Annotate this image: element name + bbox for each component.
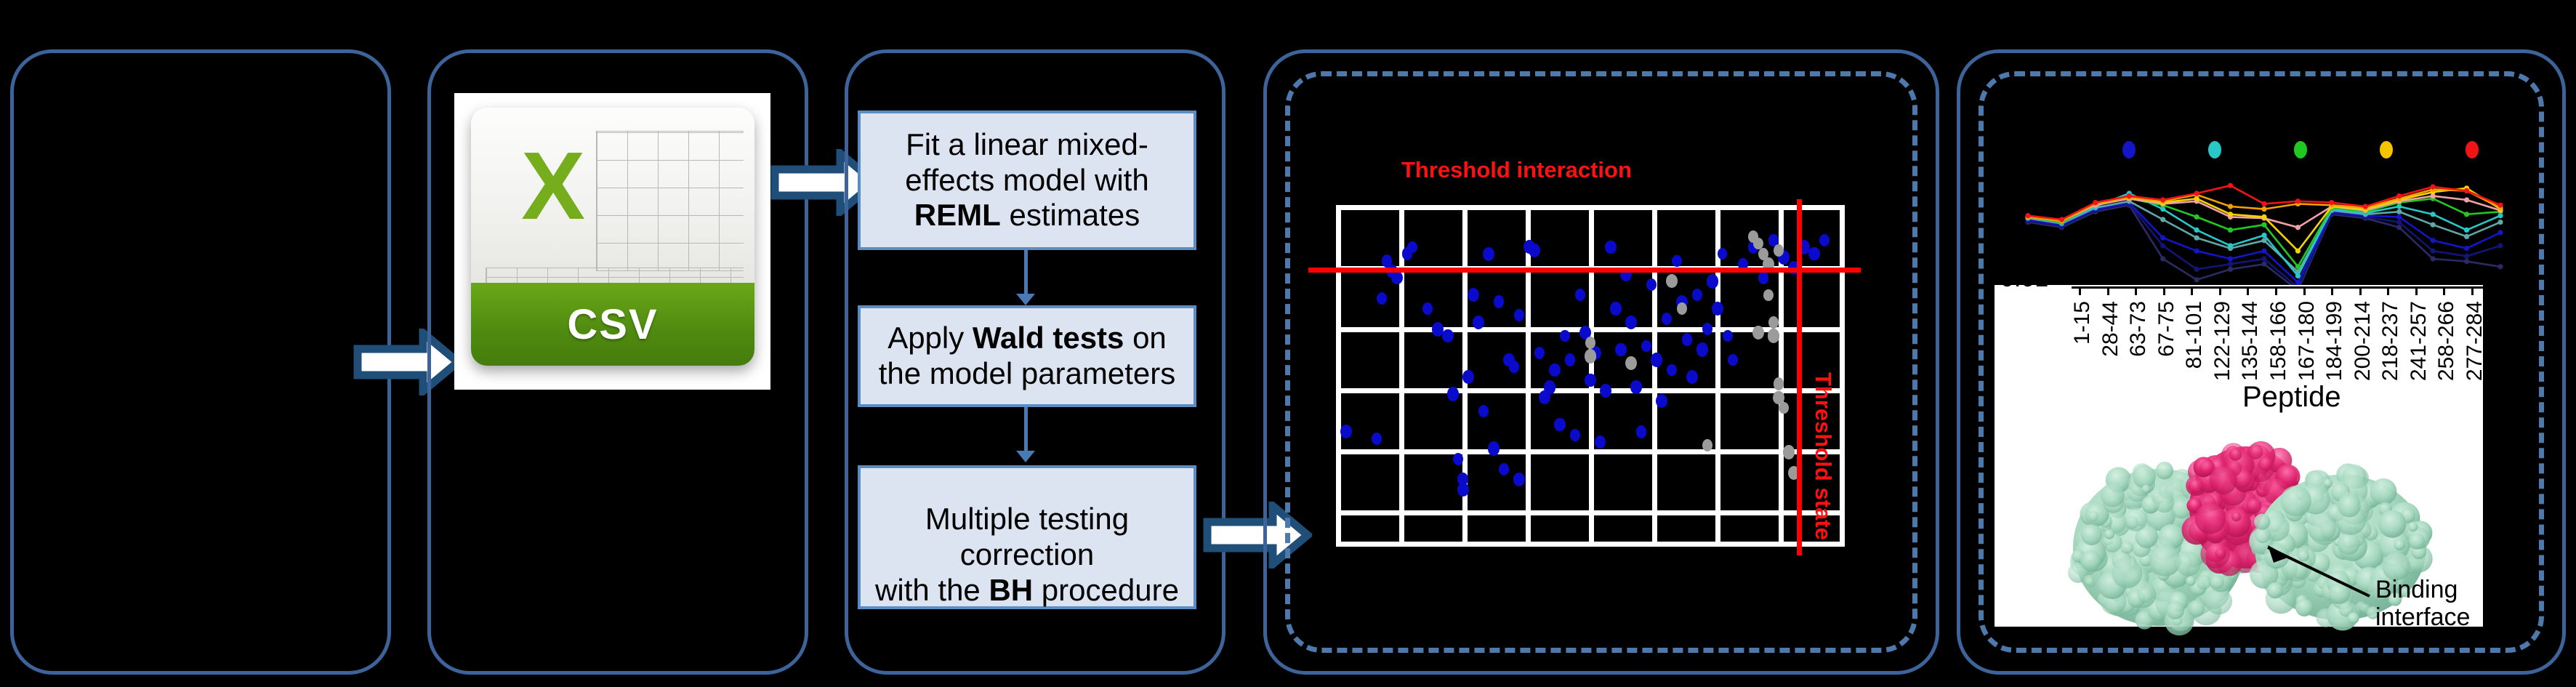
- peptide-series-marker: [2431, 212, 2436, 217]
- peptide-series-marker: [2431, 249, 2436, 254]
- volcano-plot: Threshold interaction Threshol: [1308, 153, 1897, 567]
- peptide-series-marker: [2261, 206, 2266, 212]
- scatter-point: [1483, 247, 1494, 261]
- scatter-point: [1565, 353, 1576, 366]
- scatter-point: [1499, 463, 1510, 476]
- csv-icon-extension-band: CSV: [471, 283, 754, 366]
- step1-bold: REML: [914, 198, 1001, 232]
- axis-tick: [2415, 286, 2418, 295]
- protein-surface-bump: [2189, 479, 2204, 494]
- connector-step2-step3-head: [1016, 451, 1035, 462]
- axis-tick-label: 28-44: [2098, 301, 2123, 357]
- scatter-point: [1702, 439, 1713, 452]
- axis-tick: [2079, 286, 2081, 295]
- scatter-point: [1615, 343, 1626, 356]
- peptide-series-marker: [2431, 222, 2436, 228]
- step-wald-tests-text: Apply Wald tests on the model parameters: [866, 321, 1188, 391]
- peptide-series-marker: [2497, 264, 2503, 269]
- axis-tick-label: 1-15: [2070, 301, 2095, 345]
- scatter-point: [1453, 453, 1463, 465]
- volcano-plot-title: Threshold interaction: [1401, 157, 1632, 183]
- peptide-series-marker: [2396, 225, 2402, 230]
- protein-surface-bump: [2112, 558, 2143, 589]
- protein-surface-bump: [2229, 448, 2242, 461]
- peptide-series-marker: [2194, 190, 2199, 196]
- axis-tick-label: 241-257: [2407, 301, 2431, 381]
- protein-surface-bump: [2378, 510, 2406, 538]
- input-stage-box: [10, 49, 391, 675]
- peptide-series-marker: [2059, 217, 2064, 222]
- scatter-point: [1819, 234, 1830, 246]
- scatter-point: [1462, 370, 1474, 384]
- scatter-point: [1494, 295, 1505, 308]
- peptide-series-marker: [2431, 184, 2436, 189]
- scatter-point: [1682, 333, 1693, 346]
- protein-surface-bump: [2138, 587, 2153, 603]
- protein-surface-bump: [2370, 478, 2397, 505]
- scatter-point: [1779, 402, 1788, 414]
- protein-surface-bump: [2394, 539, 2405, 550]
- axis-tick-label: 218-237: [2378, 301, 2403, 381]
- peptide-series-marker: [2295, 273, 2301, 278]
- scatter-point: [1442, 329, 1454, 343]
- peptide-series-marker: [2228, 183, 2233, 188]
- scatter-point: [1641, 340, 1651, 353]
- axis-tick: [2275, 286, 2277, 295]
- protein-surface-bump: [2196, 574, 2211, 590]
- peptide-series-marker: [2261, 214, 2266, 220]
- peptide-series-marker: [2295, 264, 2301, 269]
- peptide-series-marker: [2464, 228, 2469, 233]
- peptide-series-marker: [2261, 201, 2266, 206]
- step-fit-model-text: Fit a linear mixed-effects model with RE…: [866, 127, 1188, 233]
- scatter-point: [1340, 425, 1352, 438]
- scatter-point: [1718, 248, 1727, 260]
- scatter-point: [1692, 289, 1702, 301]
- binding-interface-annotation: Binding interface: [2375, 576, 2470, 631]
- peptide-series-marker: [2261, 262, 2266, 267]
- scatter-point: [1544, 380, 1556, 395]
- peptide-series-marker: [2228, 228, 2233, 233]
- scatter-point: [1625, 316, 1637, 329]
- peptide-series-marker: [2497, 220, 2503, 225]
- scatter-point: [1473, 316, 1484, 329]
- scatter-point: [1672, 255, 1681, 267]
- peptide-series-marker: [2497, 230, 2503, 235]
- protein-surface-bump: [2088, 511, 2099, 522]
- peptide-series-marker: [2464, 234, 2469, 239]
- protein-surface-bump: [2166, 601, 2184, 619]
- scatter-point: [1372, 433, 1382, 445]
- axis-tick: [2107, 286, 2109, 295]
- peptide-series-marker: [2025, 213, 2030, 218]
- axis-tick-label: 277-284: [2463, 301, 2487, 381]
- connector-step1-step2: [1024, 250, 1028, 295]
- scatter-point: [1686, 370, 1699, 385]
- protein-surface-bump: [2348, 612, 2359, 624]
- volcano-plot-area: [1336, 205, 1845, 547]
- scatter-point: [1656, 394, 1668, 409]
- legend-marker: [2208, 141, 2221, 158]
- peptide-series-marker: [2194, 267, 2199, 272]
- axis-tick: [2135, 286, 2137, 295]
- peptide-axis-title: Peptide: [2242, 381, 2341, 414]
- peptide-series-marker: [2261, 249, 2266, 254]
- peptide-series-marker: [2194, 236, 2199, 241]
- peptide-chart-ylabel: 0.01: [2000, 276, 2048, 293]
- threshold-state-line: [1797, 199, 1802, 555]
- protein-surface-bump: [2409, 533, 2425, 549]
- binding-interface-line2: interface: [2375, 603, 2470, 631]
- axis-tick: [2303, 286, 2306, 295]
- protein-surface-bump: [2231, 512, 2241, 521]
- peptide-series-marker: [2194, 228, 2199, 233]
- scatter-points-layer: [1336, 205, 1845, 547]
- scatter-point: [1763, 289, 1773, 301]
- csv-file-icon: X CSV: [471, 108, 754, 366]
- protein-surface-bump: [2248, 444, 2263, 459]
- peptide-series-marker: [2464, 254, 2469, 259]
- threshold-state-label: Threshold state: [1810, 372, 1836, 540]
- peptide-series-marker: [2295, 225, 2301, 230]
- scatter-point: [1610, 302, 1621, 315]
- peptide-series-marker: [2295, 280, 2301, 285]
- scatter-point: [1549, 363, 1561, 377]
- scatter-point: [1407, 241, 1417, 254]
- axis-tick: [2163, 286, 2165, 295]
- axis-tick-label: 81-101: [2182, 301, 2207, 369]
- scatter-point: [1728, 354, 1737, 366]
- y-axis-label-clip: 0.01: [1995, 276, 2082, 305]
- peptide-series-marker: [2093, 200, 2098, 205]
- axis-tick-label: 67-75: [2154, 301, 2179, 357]
- scatter-point: [1646, 278, 1657, 292]
- protein-surface-bump: [2186, 576, 2195, 585]
- peptide-axis-tick-labels: 1-1528-4463-7367-7581-101122-129135-1441…: [2072, 298, 2483, 385]
- protein-surface-bump: [2408, 522, 2418, 532]
- protein-surface-bump: [2083, 575, 2094, 586]
- scatter-point: [1457, 483, 1470, 497]
- peptide-series-marker: [2396, 209, 2402, 214]
- scatter-point: [1768, 329, 1780, 343]
- step1-pre: Fit a linear mixed-effects model with: [905, 127, 1148, 197]
- scatter-point: [1534, 347, 1545, 360]
- scatter-point: [1774, 377, 1784, 390]
- peptide-series-marker: [2497, 203, 2503, 208]
- peptide-series-marker: [2295, 249, 2301, 254]
- scatter-point: [1422, 302, 1433, 315]
- peptide-series-marker: [2228, 204, 2233, 209]
- axis-tick: [2359, 286, 2362, 295]
- peptide-series-marker: [2464, 246, 2469, 251]
- scatter-point: [1666, 274, 1678, 288]
- scatter-point: [1585, 374, 1595, 387]
- peptide-series-marker: [2160, 217, 2165, 222]
- step2-bold: Wald tests: [973, 321, 1124, 355]
- peptide-series-marker: [2160, 236, 2165, 241]
- axis-tick: [2247, 286, 2249, 295]
- scatter-point: [1707, 274, 1719, 289]
- axis-tick-label: 63-73: [2126, 301, 2151, 357]
- scatter-point: [1468, 288, 1479, 302]
- scatter-point: [1677, 302, 1687, 315]
- legend-marker: [2466, 141, 2479, 158]
- step-bh-correction-box: Multiple testing correction with the BH …: [858, 465, 1196, 609]
- peptide-series-marker: [2261, 222, 2266, 228]
- scatter-point: [1513, 473, 1525, 486]
- peptide-series-marker: [2160, 256, 2165, 261]
- scatter-point: [1808, 247, 1819, 260]
- axis-tick-label: 167-180: [2295, 301, 2319, 381]
- figure-canvas: X CSV Fit a linear mixed-effects model w…: [0, 0, 2576, 687]
- csv-extension-label: CSV: [567, 300, 658, 349]
- scatter-point: [1774, 244, 1784, 257]
- peptide-series-marker: [2261, 256, 2266, 261]
- scatter-point: [1702, 323, 1712, 335]
- protein-surface-bump: [2215, 548, 2225, 558]
- scatter-point: [1696, 342, 1708, 356]
- threshold-interaction-line: [1308, 268, 1861, 273]
- axis-tick-label: 122-129: [2210, 301, 2235, 381]
- protein-surface-bump: [2324, 478, 2333, 487]
- scatter-point: [1667, 364, 1676, 376]
- scatter-point: [1514, 309, 1524, 321]
- peptide-series-marker: [2431, 238, 2436, 243]
- protein-surface-bump: [2210, 575, 2223, 589]
- scatter-point: [1509, 361, 1519, 373]
- protein-surface-bump: [2298, 550, 2309, 561]
- protein-surface-bump: [2080, 550, 2101, 571]
- axis-tick: [2387, 286, 2389, 295]
- axis-tick-label: 184-199: [2322, 301, 2347, 381]
- step3-post: procedure: [1033, 573, 1179, 607]
- protein-surface-bump: [2121, 542, 2133, 554]
- step-wald-tests-box: Apply Wald tests on the model parameters: [858, 305, 1196, 407]
- protein-surface-bump: [2101, 483, 2125, 507]
- peptide-series-marker: [2431, 256, 2436, 261]
- step1-post: estimates: [1001, 198, 1140, 232]
- peptide-series-marker: [2396, 220, 2402, 225]
- peptide-series-marker: [2329, 200, 2334, 205]
- protein-surface-bump: [2295, 599, 2313, 616]
- scatter-point: [1783, 445, 1795, 459]
- scatter-point: [1636, 425, 1647, 438]
- peptide-series-marker: [2127, 193, 2132, 198]
- scatter-point: [1554, 418, 1565, 431]
- peptide-series-marker: [2295, 198, 2301, 204]
- protein-surface-bump: [2154, 493, 2174, 513]
- axis-tick: [2443, 286, 2445, 295]
- scatter-point: [1712, 302, 1724, 316]
- scatter-point: [1625, 356, 1637, 370]
- peptide-axis-ticks: [2072, 286, 2483, 297]
- step3-bold: BH: [989, 573, 1033, 607]
- scatter-point: [1651, 353, 1663, 367]
- peptide-series-marker: [2464, 188, 2469, 193]
- scatter-point: [1595, 435, 1606, 449]
- legend-marker: [2380, 141, 2393, 158]
- legend-marker: [2294, 141, 2307, 158]
- protein-surface-bump: [2149, 545, 2181, 576]
- connector-step2-step3: [1024, 407, 1028, 452]
- protein-surface-bump: [2306, 512, 2336, 542]
- protein-surface-bump: [2156, 462, 2173, 479]
- peptide-series-marker: [2194, 249, 2199, 254]
- protein-surface-bump: [2338, 532, 2360, 555]
- axis-tick-label: 258-266: [2434, 301, 2459, 381]
- peptide-series-marker: [2497, 243, 2503, 248]
- scatter-point: [1662, 313, 1673, 326]
- peptide-chart-legend: [2006, 138, 2515, 167]
- step-fit-model-box: Fit a linear mixed-effects model with RE…: [858, 111, 1196, 250]
- peptide-series-marker: [2228, 212, 2233, 217]
- scatter-point: [1758, 271, 1769, 284]
- axis-tick: [2331, 286, 2333, 295]
- protein-surface-bump: [2141, 485, 2150, 494]
- protein-surface-bump: [2123, 507, 2147, 531]
- scatter-point: [1478, 405, 1489, 417]
- scatter-point: [1529, 244, 1541, 258]
- axis-tick: [2191, 286, 2193, 295]
- protein-surface-bump: [2176, 552, 2201, 576]
- step2-pre: Apply: [887, 321, 973, 355]
- peptide-series-marker: [2194, 277, 2199, 282]
- peptide-uptake-chart: [2006, 145, 2515, 305]
- scatter-point: [1752, 326, 1764, 340]
- peptide-series-marker: [2396, 193, 2402, 198]
- protein-surface-bump: [2195, 503, 2226, 534]
- scatter-point: [1585, 349, 1597, 363]
- scatter-point: [1575, 289, 1585, 301]
- peptide-series-marker: [2160, 197, 2165, 202]
- scatter-point: [1488, 441, 1500, 455]
- protein-surface-bump: [2133, 465, 2156, 489]
- legend-marker: [2122, 141, 2136, 158]
- peptide-series-marker: [2464, 212, 2469, 217]
- axis-tick-label: 158-166: [2266, 301, 2291, 381]
- step-bh-correction-text: Multiple testing correction with the BH …: [866, 467, 1188, 608]
- peptide-series-marker: [2194, 214, 2199, 220]
- axis-tick-label: 135-144: [2238, 301, 2263, 381]
- peptide-series-marker: [2160, 243, 2165, 248]
- excel-x-glyph: X: [488, 116, 618, 257]
- protein-surface-bump: [2267, 582, 2283, 598]
- protein-surface-bump: [2104, 529, 2114, 539]
- scatter-point: [1447, 387, 1459, 401]
- axis-tick-label: 200-214: [2351, 301, 2375, 381]
- peptide-series-marker: [2363, 204, 2368, 209]
- peptide-series-marker: [2228, 243, 2233, 248]
- scatter-point: [1630, 380, 1641, 393]
- peptide-series-marker: [2396, 214, 2402, 220]
- connector-step1-step2-head: [1016, 294, 1035, 305]
- peptide-series-marker: [2228, 267, 2233, 272]
- peptide-series-marker: [2464, 197, 2469, 202]
- scatter-point: [1560, 330, 1569, 342]
- axis-tick: [2219, 286, 2221, 295]
- protein-surface-bump: [2258, 457, 2273, 471]
- protein-surface-bump: [2081, 524, 2102, 545]
- protein-surface-bump: [2281, 486, 2311, 516]
- peptide-series-marker: [2228, 262, 2233, 267]
- scatter-point: [1600, 384, 1611, 398]
- axis-tick: [2471, 286, 2474, 295]
- protein-surface-bump: [2246, 498, 2261, 513]
- binding-interface-line1: Binding: [2375, 576, 2470, 603]
- peptide-series-marker: [2464, 259, 2469, 264]
- protein-surface-bump: [2338, 494, 2360, 517]
- scatter-point: [1723, 330, 1733, 342]
- scatter-point: [1377, 292, 1387, 305]
- scatter-point: [1570, 429, 1580, 441]
- protein-surface-bump: [2188, 600, 2205, 616]
- scatter-point: [1391, 271, 1403, 285]
- scatter-point: [1605, 241, 1616, 254]
- scatter-point: [1768, 316, 1779, 329]
- peptide-series-marker: [2228, 256, 2233, 261]
- protein-surface-bump: [2254, 514, 2270, 530]
- peptide-series-marker: [2261, 233, 2266, 238]
- protein-surface-bump: [2210, 466, 2237, 494]
